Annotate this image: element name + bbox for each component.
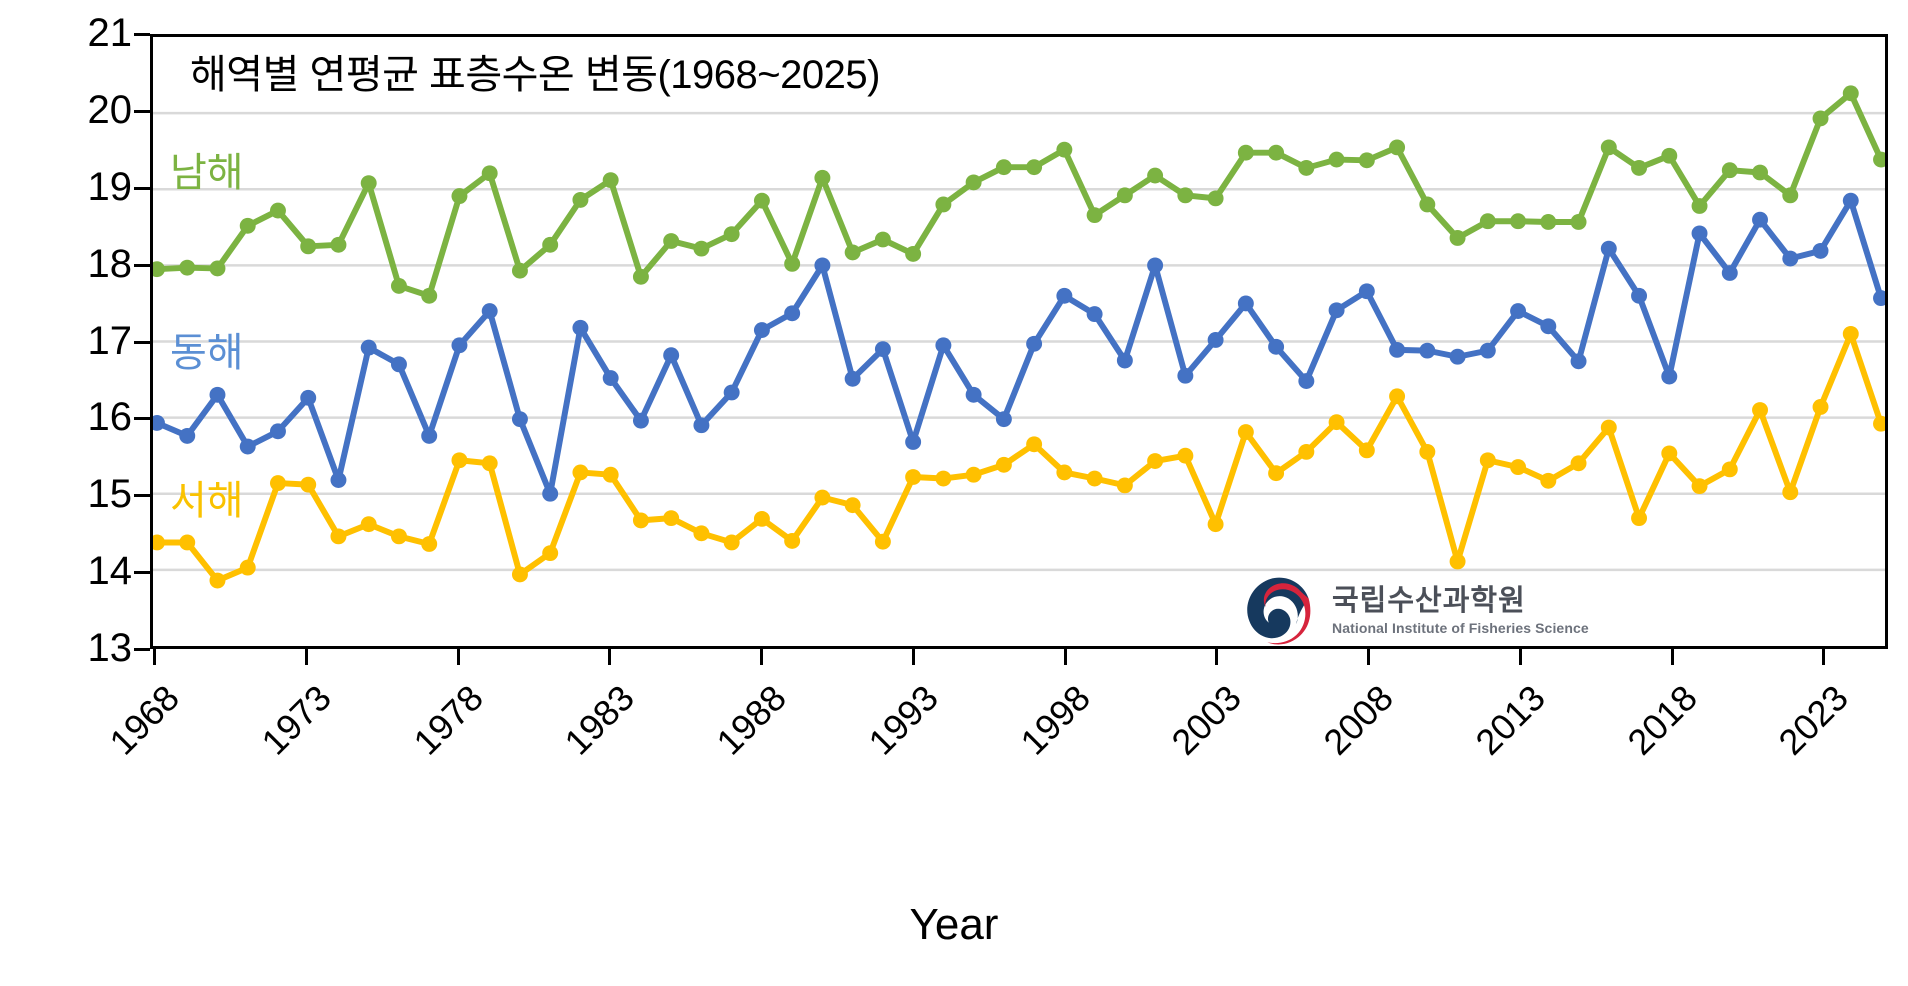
data-point <box>240 439 256 455</box>
data-point <box>572 192 588 208</box>
chart-title: 해역별 연평균 표층수온 변동(1968~2025) <box>190 42 880 100</box>
y-tick-mark <box>134 341 150 344</box>
data-point <box>1087 471 1103 487</box>
data-point <box>754 322 770 338</box>
data-point <box>240 218 256 234</box>
data-point <box>1298 373 1314 389</box>
chart-canvas <box>153 37 1885 646</box>
data-point <box>754 511 770 527</box>
data-point <box>1722 162 1738 178</box>
data-point <box>603 370 619 386</box>
data-point <box>1601 420 1617 436</box>
data-point <box>330 528 346 544</box>
data-point <box>1571 455 1587 471</box>
series-label-namhae: 남해 <box>170 140 244 198</box>
data-point <box>1692 225 1708 241</box>
data-point <box>482 455 498 471</box>
x-tick-label: 1983 <box>543 677 643 777</box>
data-point <box>1147 257 1163 273</box>
data-point <box>1147 168 1163 184</box>
x-tick-label: 1998 <box>998 677 1098 777</box>
data-point <box>1056 465 1072 481</box>
data-point <box>1117 187 1133 203</box>
data-point <box>1238 296 1254 312</box>
data-point <box>633 512 649 528</box>
data-point <box>784 305 800 321</box>
data-point <box>1661 148 1677 164</box>
data-point <box>512 567 528 583</box>
data-point <box>451 188 467 204</box>
data-point <box>1177 368 1193 384</box>
nifs-logo: 국립수산과학원 National Institute of Fisheries … <box>1240 572 1589 650</box>
series-line <box>157 201 1881 494</box>
data-point <box>1722 265 1738 281</box>
data-point <box>1510 303 1526 319</box>
data-point <box>391 528 407 544</box>
data-point <box>300 390 316 406</box>
data-point <box>1843 85 1859 101</box>
data-point <box>1329 302 1345 318</box>
plot-area <box>150 34 1888 649</box>
data-point <box>693 525 709 541</box>
data-point <box>1540 318 1556 334</box>
data-point <box>814 257 830 273</box>
chart-root: 수온 (℃) 212019181716151413 해역별 연평균 표층수온 변… <box>0 0 1908 986</box>
data-point <box>210 260 226 276</box>
data-point <box>270 475 286 491</box>
data-point <box>1752 212 1768 228</box>
data-point <box>1087 306 1103 322</box>
x-tick-mark <box>153 649 156 665</box>
y-tick-label: 21 <box>42 13 132 53</box>
data-point <box>1419 444 1435 460</box>
data-point <box>1208 190 1224 206</box>
data-point <box>905 246 921 262</box>
x-tick-mark <box>760 649 763 665</box>
x-tick-label: 2003 <box>1150 677 1250 777</box>
data-point <box>1329 414 1345 430</box>
data-point <box>935 471 951 487</box>
x-tick-mark <box>1064 649 1067 665</box>
data-point <box>451 452 467 468</box>
data-point <box>1450 349 1466 365</box>
series-line <box>157 334 1881 581</box>
series-2 <box>153 326 1885 588</box>
data-point <box>421 536 437 552</box>
data-point <box>542 486 558 502</box>
y-tick-mark <box>134 110 150 113</box>
data-point <box>153 535 165 551</box>
data-point <box>1480 452 1496 468</box>
data-point <box>1026 336 1042 352</box>
data-point <box>512 411 528 427</box>
data-point <box>1056 288 1072 304</box>
data-point <box>1661 369 1677 385</box>
data-point <box>845 497 861 513</box>
data-point <box>1026 159 1042 175</box>
data-point <box>1087 207 1103 223</box>
data-point <box>1268 465 1284 481</box>
data-point <box>1117 477 1133 493</box>
data-point <box>1359 283 1375 299</box>
x-tick-label: 1988 <box>694 677 794 777</box>
y-tick-label: 20 <box>42 90 132 130</box>
data-point <box>542 545 558 561</box>
logo-name-en: National Institute of Fisheries Science <box>1332 620 1589 636</box>
data-point <box>754 193 770 209</box>
data-point <box>603 172 619 188</box>
data-point <box>1843 326 1859 342</box>
data-point <box>663 233 679 249</box>
series-label-seohae: 서해 <box>170 468 244 526</box>
data-point <box>996 457 1012 473</box>
y-tick-label: 15 <box>42 474 132 514</box>
data-point <box>542 237 558 253</box>
y-tick-label: 13 <box>42 628 132 668</box>
y-tick-mark <box>134 648 150 651</box>
y-tick-label: 18 <box>42 244 132 284</box>
x-tick-mark <box>1215 649 1218 665</box>
data-point <box>482 303 498 319</box>
data-point <box>270 203 286 219</box>
x-tick-mark <box>608 649 611 665</box>
data-point <box>996 159 1012 175</box>
data-point <box>1631 510 1647 526</box>
data-point <box>240 560 256 576</box>
x-axis-title: Year <box>0 900 1908 950</box>
data-point <box>663 347 679 363</box>
data-point <box>179 428 195 444</box>
x-tick-label: 1978 <box>391 677 491 777</box>
gridlines <box>153 113 1885 570</box>
data-point <box>1752 165 1768 181</box>
data-point <box>1480 343 1496 359</box>
data-point <box>1752 402 1768 418</box>
data-point <box>603 467 619 483</box>
data-point <box>966 467 982 483</box>
data-point <box>875 232 891 248</box>
data-point <box>1813 243 1829 259</box>
x-tick-mark <box>305 649 308 665</box>
data-point <box>1450 230 1466 246</box>
data-point <box>1238 424 1254 440</box>
data-point <box>996 411 1012 427</box>
data-point <box>1389 342 1405 358</box>
data-point <box>1238 145 1254 161</box>
data-point <box>663 510 679 526</box>
x-tick-label: 2018 <box>1605 677 1705 777</box>
data-point <box>875 341 891 357</box>
data-point <box>845 245 861 261</box>
x-tick-label: 2013 <box>1453 677 1553 777</box>
y-tick-label: 17 <box>42 321 132 361</box>
data-point <box>421 288 437 304</box>
data-point <box>935 337 951 353</box>
x-tick-label: 2008 <box>1301 677 1401 777</box>
x-tick-mark <box>912 649 915 665</box>
data-point <box>1782 187 1798 203</box>
data-point <box>845 371 861 387</box>
taegeuk-swirl-icon <box>1240 572 1318 650</box>
data-point <box>361 516 377 532</box>
data-point <box>1208 332 1224 348</box>
data-point <box>1117 353 1133 369</box>
data-point <box>210 573 226 589</box>
data-point <box>482 165 498 181</box>
data-point <box>1601 139 1617 155</box>
x-tick-mark <box>457 649 460 665</box>
data-point <box>179 535 195 551</box>
data-point <box>784 533 800 549</box>
data-point <box>1631 160 1647 176</box>
data-point <box>1177 448 1193 464</box>
data-point <box>693 417 709 433</box>
data-point <box>421 428 437 444</box>
series-label-donghae: 동해 <box>170 320 244 378</box>
data-point <box>361 340 377 356</box>
data-point <box>179 260 195 276</box>
data-point <box>1359 442 1375 458</box>
y-tick-label: 14 <box>42 551 132 591</box>
data-point <box>572 465 588 481</box>
data-point <box>1298 444 1314 460</box>
data-point <box>1843 193 1859 209</box>
data-point <box>1571 214 1587 230</box>
data-point <box>633 413 649 429</box>
data-point <box>966 174 982 190</box>
x-tick-label: 1993 <box>846 677 946 777</box>
data-point <box>210 387 226 403</box>
data-point <box>1026 436 1042 452</box>
y-tick-mark <box>134 417 150 420</box>
data-point <box>1601 241 1617 257</box>
data-point <box>1813 399 1829 415</box>
data-point <box>1480 213 1496 229</box>
data-point <box>1571 353 1587 369</box>
y-tick-label: 16 <box>42 397 132 437</box>
y-tick-mark <box>134 494 150 497</box>
data-point <box>300 477 316 493</box>
data-point <box>1661 445 1677 461</box>
data-point <box>814 170 830 186</box>
x-tick-mark <box>1671 649 1674 665</box>
data-point <box>1782 251 1798 267</box>
data-point <box>1631 288 1647 304</box>
x-tick-mark <box>1822 649 1825 665</box>
data-point <box>572 320 588 336</box>
series-layer <box>153 85 1885 588</box>
data-point <box>1873 152 1885 168</box>
y-tick-mark <box>134 571 150 574</box>
y-tick-mark <box>134 264 150 267</box>
y-tick-mark <box>134 187 150 190</box>
data-point <box>1298 160 1314 176</box>
data-point <box>1208 516 1224 532</box>
data-point <box>1510 459 1526 475</box>
data-point <box>1268 339 1284 355</box>
data-point <box>1450 554 1466 570</box>
data-point <box>1692 198 1708 214</box>
data-point <box>724 226 740 242</box>
data-point <box>966 387 982 403</box>
data-point <box>1540 214 1556 230</box>
x-tick-label: 1973 <box>239 677 339 777</box>
y-tick-label: 19 <box>42 167 132 207</box>
data-point <box>270 423 286 439</box>
data-point <box>724 385 740 401</box>
data-point <box>1056 142 1072 158</box>
data-point <box>512 263 528 279</box>
data-point <box>1510 213 1526 229</box>
data-point <box>1359 152 1375 168</box>
data-point <box>1419 197 1435 213</box>
data-point <box>1692 478 1708 494</box>
data-point <box>1782 484 1798 500</box>
data-point <box>361 175 377 191</box>
logo-name-kr: 국립수산과학원 <box>1332 586 1589 616</box>
data-point <box>451 337 467 353</box>
x-tick-label: 1968 <box>87 677 187 777</box>
data-point <box>905 434 921 450</box>
data-point <box>1389 139 1405 155</box>
data-point <box>1268 145 1284 161</box>
data-point <box>1329 152 1345 168</box>
data-point <box>1389 388 1405 404</box>
x-tick-mark <box>1367 649 1370 665</box>
data-point <box>935 197 951 213</box>
data-point <box>875 534 891 550</box>
data-point <box>1177 187 1193 203</box>
data-point <box>391 278 407 294</box>
data-point <box>693 241 709 257</box>
data-point <box>724 535 740 551</box>
data-point <box>633 269 649 285</box>
data-point <box>1147 453 1163 469</box>
data-point <box>391 356 407 372</box>
data-point <box>300 238 316 254</box>
data-point <box>330 472 346 488</box>
data-point <box>784 256 800 272</box>
data-point <box>1540 473 1556 489</box>
data-point <box>1722 461 1738 477</box>
x-tick-mark <box>1519 649 1522 665</box>
data-point <box>1873 290 1885 306</box>
data-point <box>814 490 830 506</box>
data-point <box>330 237 346 253</box>
y-tick-mark <box>134 33 150 36</box>
data-point <box>1419 343 1435 359</box>
data-point <box>1813 111 1829 127</box>
data-point <box>905 469 921 485</box>
x-tick-label: 2023 <box>1757 677 1857 777</box>
data-point <box>153 261 165 277</box>
